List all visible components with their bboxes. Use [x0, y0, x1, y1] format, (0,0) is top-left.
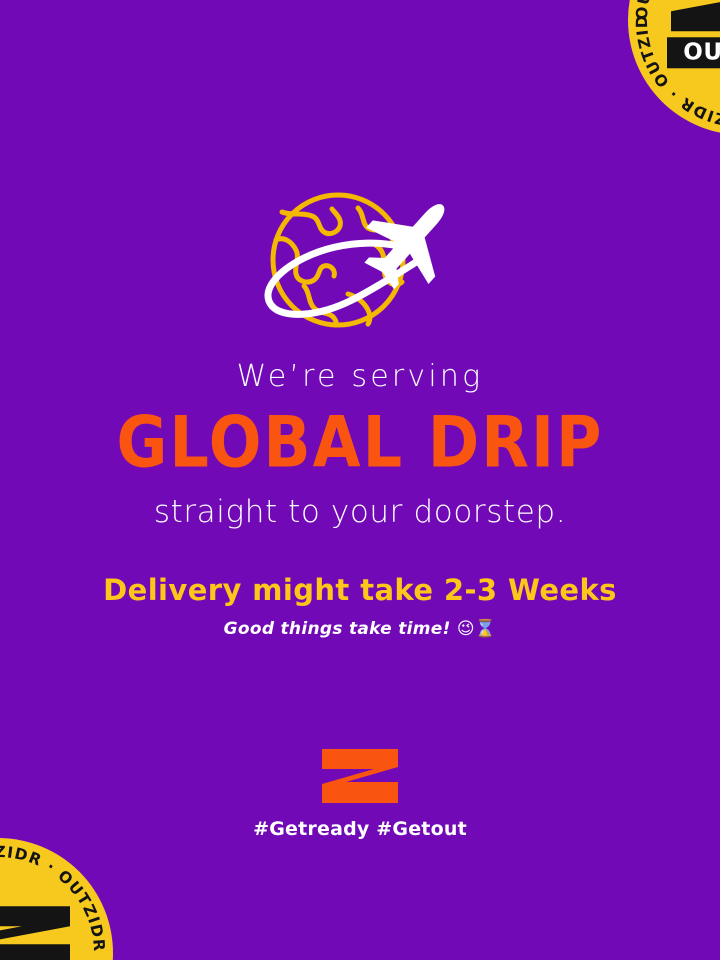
- stamp-core-bottom-left: OUTZIDR: [0, 904, 74, 960]
- outzidr-z-logo-icon: [0, 904, 74, 960]
- brand-stamp-bottom-left: OUTZIDR · OUTZIDR · OUTZIDR · OUTZIDR · …: [0, 838, 113, 960]
- delivery-estimate-text: Delivery might take 2-3 Weeks: [0, 573, 720, 607]
- stamp-wordmark: OUTZIDR: [667, 37, 720, 68]
- hashtags-text: #Getready #Getout: [0, 818, 720, 840]
- tagline-emoji: 😉⌛: [457, 619, 497, 639]
- subline-text: straight to your doorstep.: [0, 495, 720, 529]
- tagline-label: Good things take time!: [224, 619, 451, 639]
- brand-stamp-top-right: OUTZIDR · OUTZIDR · OUTZIDR · OUTZIDR · …: [628, 0, 720, 135]
- tagline-text: Good things take time! 😉⌛: [0, 619, 720, 639]
- brand-lockup: #Getready #Getout: [0, 748, 720, 840]
- outzidr-z-logo-icon: [667, 0, 720, 33]
- copy-block: We’re serving GLOBAL DRIP straight to yo…: [0, 360, 720, 639]
- promo-poster: OUTZIDR · OUTZIDR · OUTZIDR · OUTZIDR · …: [0, 0, 720, 960]
- outzidr-z-logo-icon: [320, 748, 400, 804]
- stamp-core-top-right: OUTZIDR: [667, 0, 720, 69]
- globe-airplane-illustration: [230, 182, 490, 342]
- page-title: GLOBAL DRIP: [0, 407, 720, 478]
- eyebrow-text: We’re serving: [0, 360, 720, 393]
